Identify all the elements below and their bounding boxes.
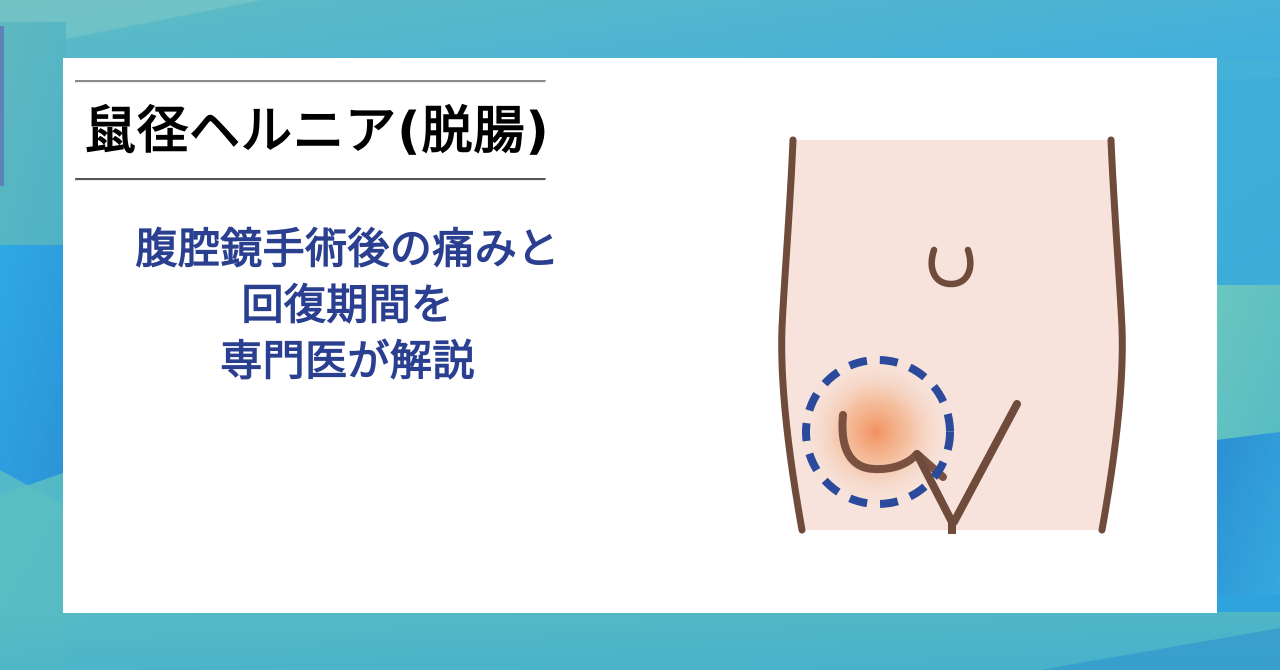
background-shape-left-blue [0,245,66,495]
text-column: 鼠径ヘルニア(脱腸) 腹腔鏡手術後の痛みと 回復期間を 専門医が解説 [75,80,620,389]
subtitle-line-2: 回復期間を [75,277,620,333]
background-shape-right-teal [1217,285,1280,440]
subtitle-line-3: 専門医が解説 [75,333,620,389]
lower-abdomen-illustration [762,132,1142,534]
subtitle-line-1: 腹腔鏡手術後の痛みと [75,221,620,277]
background-shape-left-sliver [0,26,4,186]
background-shape-right-upper [1217,60,1280,285]
abdomen-svg [762,132,1142,534]
background-shape-bottom-band [0,612,1280,670]
page-title: 鼠径ヘルニア(脱腸) [75,83,620,178]
page-subtitle: 腹腔鏡手術後の痛みと 回復期間を 専門医が解説 [75,181,620,389]
background-shape-right-blue [1217,432,1280,595]
background-shape-left-teal [0,22,66,245]
thumbnail-canvas: 鼠径ヘルニア(脱腸) 腹腔鏡手術後の痛みと 回復期間を 専門医が解説 [0,0,1280,670]
